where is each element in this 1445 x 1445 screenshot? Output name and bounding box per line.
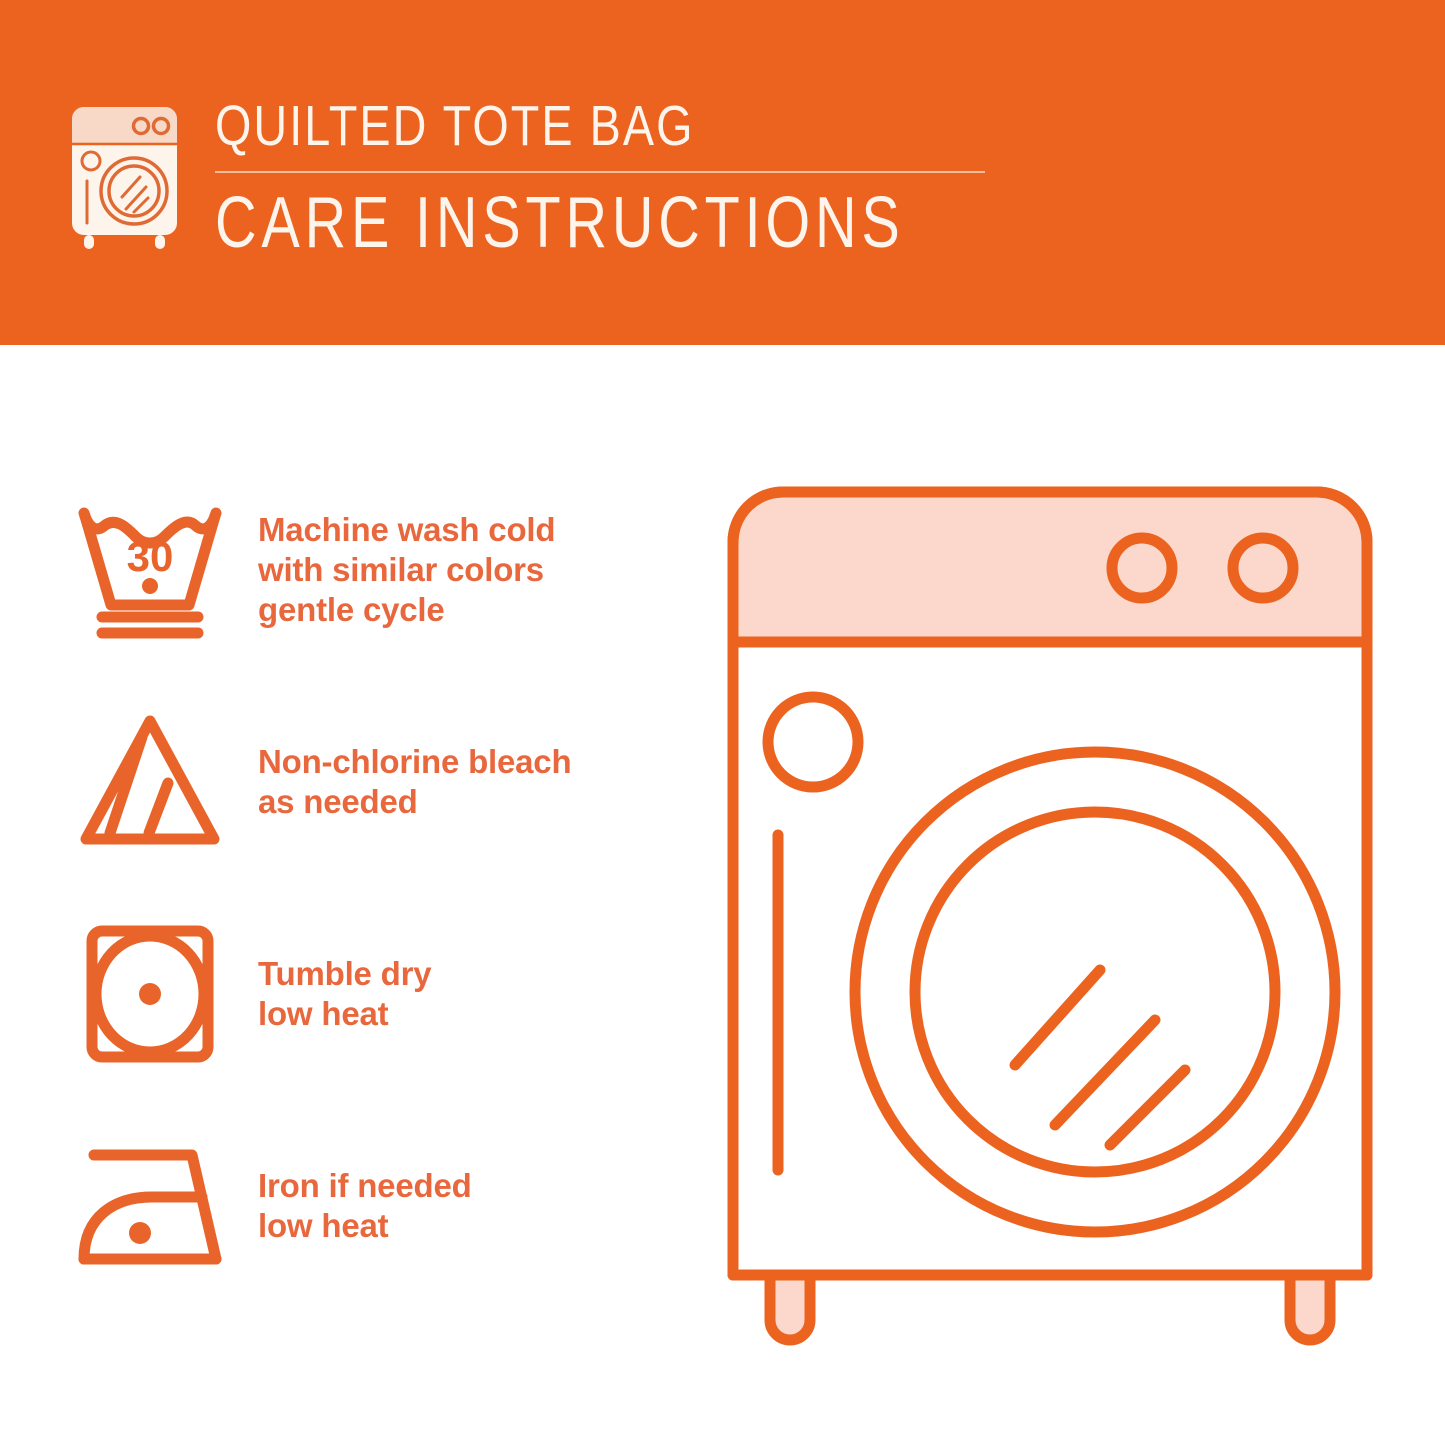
- care-label: Machine wash cold with similar colors ge…: [258, 510, 555, 630]
- non-chlorine-bleach-triangle-icon: [70, 707, 230, 857]
- dispenser-button: [768, 697, 858, 787]
- care-label: Tumble dry low heat: [258, 954, 431, 1034]
- iron-low-heat-icon: [70, 1139, 230, 1274]
- header-band: QUILTED TOTE BAG CARE INSTRUCTIONS: [0, 0, 1445, 345]
- care-row: Iron if needed low heat: [70, 1126, 670, 1286]
- care-label: Iron if needed low heat: [258, 1166, 472, 1246]
- washing-machine-icon: [62, 99, 187, 254]
- wash-tub-30-icon: 30: [70, 493, 230, 648]
- page-subtitle: CARE INSTRUCTIONS: [215, 185, 905, 261]
- tumble-dry-low-icon: [70, 919, 230, 1069]
- title-divider: [215, 171, 985, 173]
- header-content: QUILTED TOTE BAG CARE INSTRUCTIONS: [62, 95, 1077, 261]
- care-row: Non-chlorine bleach as needed: [70, 702, 670, 862]
- door-inner-ring: [915, 812, 1275, 1172]
- control-panel: [733, 492, 1367, 642]
- leg: [770, 1275, 810, 1340]
- care-instructions-list: 30 Machine wash cold with similar colors…: [70, 490, 670, 1286]
- header-titles: QUILTED TOTE BAG CARE INSTRUCTIONS: [215, 95, 1077, 261]
- care-row: Tumble dry low heat: [70, 914, 670, 1074]
- care-label: Non-chlorine bleach as needed: [258, 742, 571, 822]
- wash-temperature-value: 30: [127, 533, 174, 580]
- washing-machine-illustration: [715, 480, 1385, 1370]
- page-title: QUILTED TOTE BAG: [215, 95, 922, 157]
- care-row: 30 Machine wash cold with similar colors…: [70, 490, 670, 650]
- door-outer-ring: [855, 752, 1335, 1232]
- leg: [1290, 1275, 1330, 1340]
